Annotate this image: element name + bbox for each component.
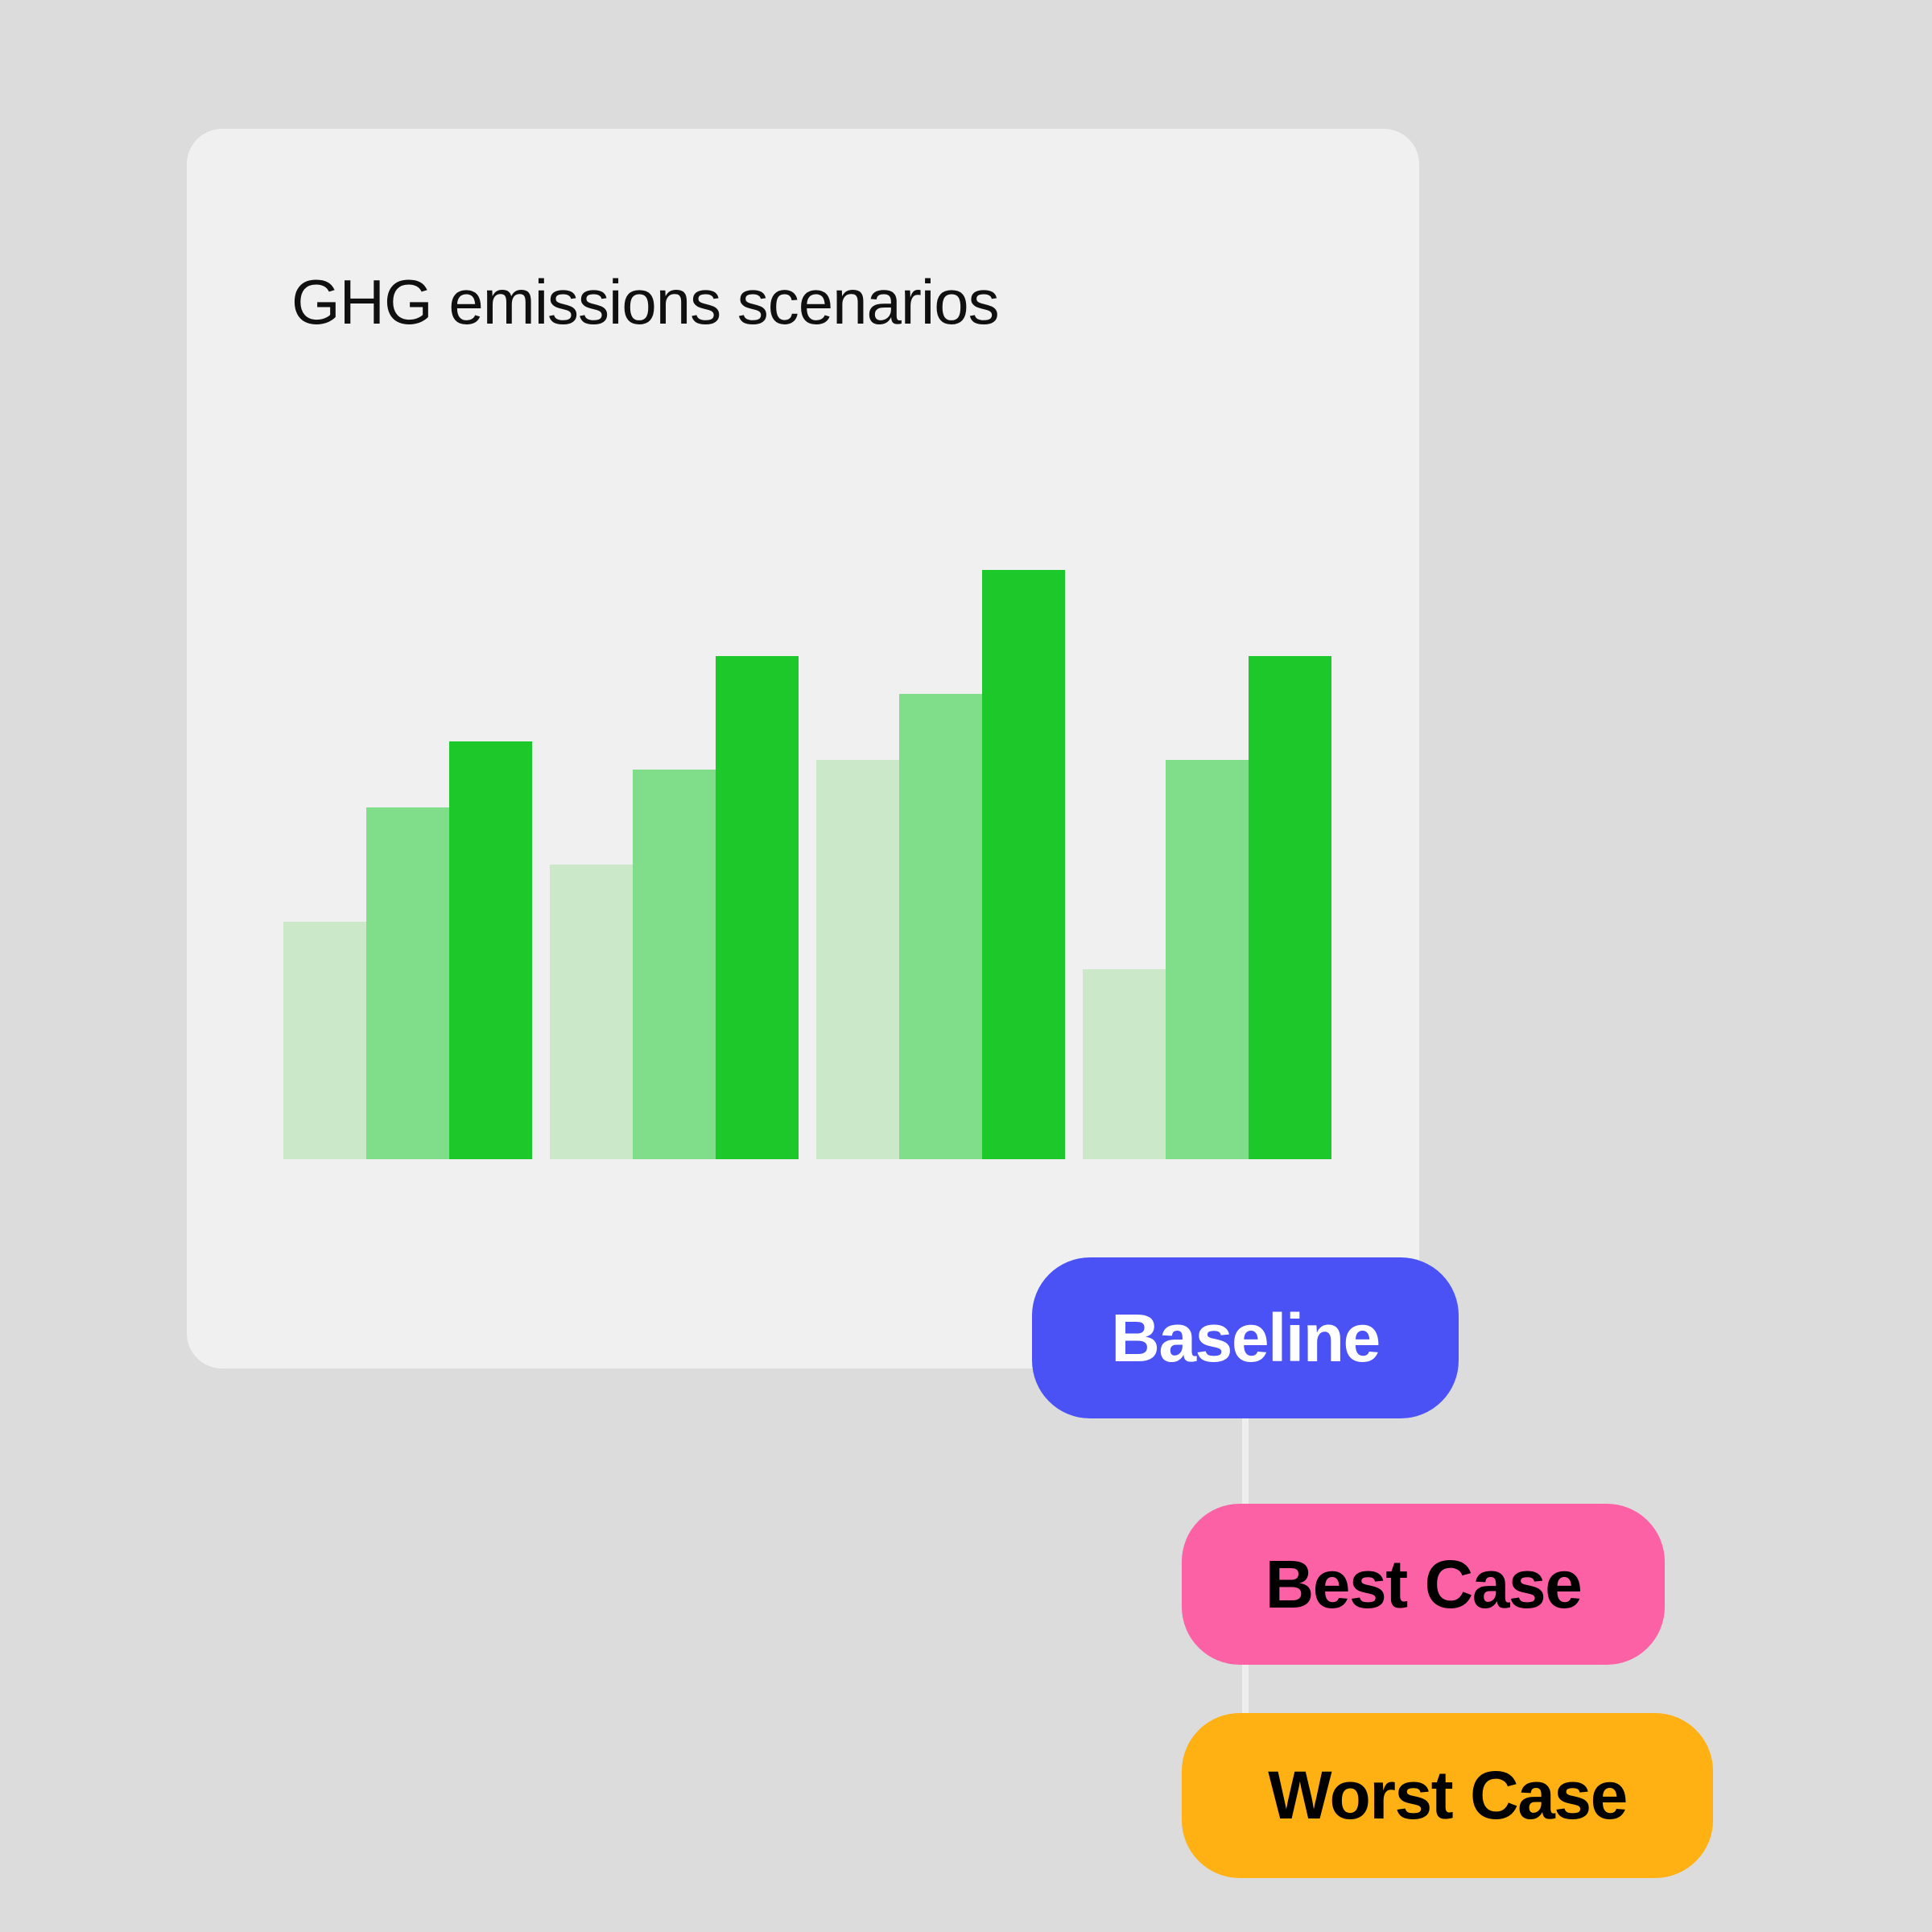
bar-baseline[interactable] — [283, 922, 366, 1159]
bar-worst-case[interactable] — [982, 570, 1065, 1159]
bar-group — [1083, 209, 1331, 1159]
bar-baseline[interactable] — [550, 865, 633, 1159]
legend-pill-best-case[interactable]: Best Case — [1182, 1504, 1665, 1665]
bar-group — [816, 209, 1065, 1159]
bar-group — [283, 209, 532, 1159]
bar-best-case[interactable] — [633, 770, 716, 1159]
chart-card: GHG emissions scenarios — [187, 129, 1419, 1368]
bar-group — [550, 209, 799, 1159]
bar-chart-plot-area — [187, 129, 1419, 1368]
bar-best-case[interactable] — [899, 694, 982, 1159]
legend-pill-baseline-label: Baseline — [1111, 1299, 1380, 1377]
legend-pill-worst-case-label: Worst Case — [1268, 1757, 1627, 1835]
bar-worst-case[interactable] — [449, 741, 532, 1159]
legend-pill-best-case-label: Best Case — [1265, 1546, 1582, 1624]
bar-baseline[interactable] — [816, 760, 899, 1159]
bar-worst-case[interactable] — [716, 656, 799, 1159]
bar-best-case[interactable] — [1166, 760, 1249, 1159]
legend-pill-baseline[interactable]: Baseline — [1032, 1257, 1459, 1418]
bar-baseline[interactable] — [1083, 969, 1166, 1159]
bar-worst-case[interactable] — [1249, 656, 1331, 1159]
bar-best-case[interactable] — [366, 807, 449, 1159]
legend-pill-worst-case[interactable]: Worst Case — [1182, 1713, 1713, 1878]
